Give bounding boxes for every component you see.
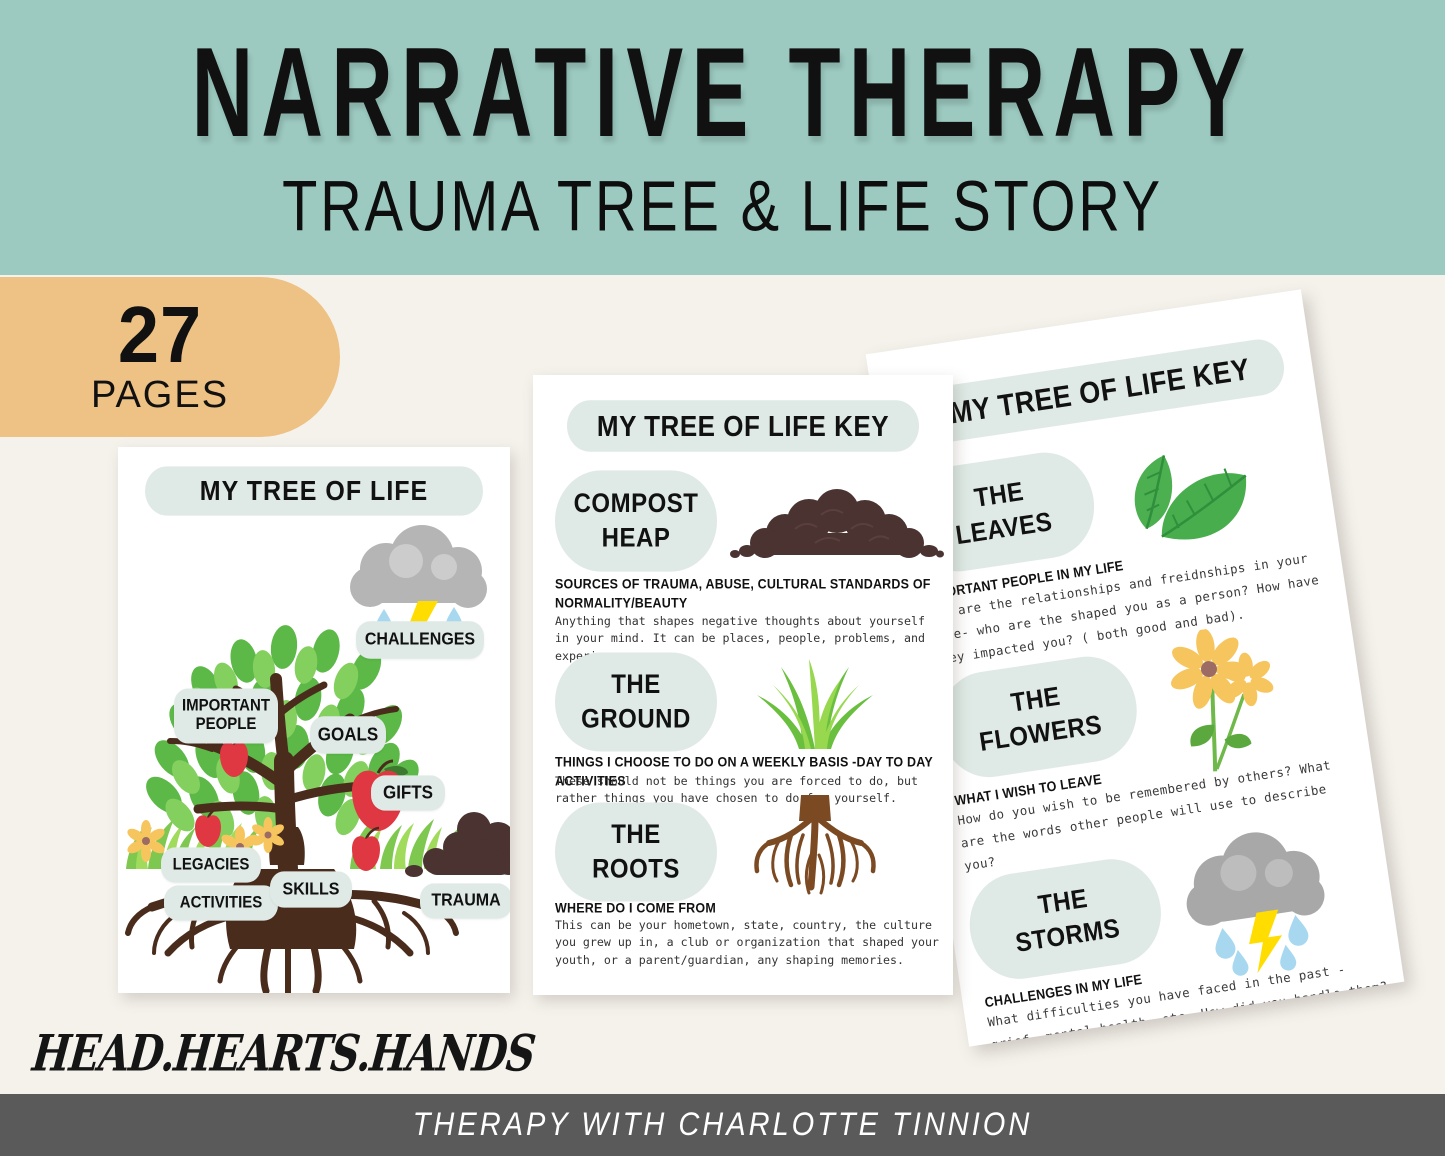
page-subtitle: TRAUMA TREE & LIFE STORY bbox=[51, 172, 1395, 243]
footer-bar: THERAPY WITH CHARLOTTE TINNION bbox=[0, 1094, 1445, 1156]
poster-canvas: NARRATIVE THERAPY TRAUMA TREE & LIFE STO… bbox=[0, 0, 1445, 1156]
tree-illustration: CHALLENGES IMPORTANT PEOPLE GOALS GIFTS … bbox=[118, 509, 510, 993]
section-pill-the-ground: THE GROUND bbox=[555, 653, 717, 752]
tree-of-life-key-card[interactable]: MY TREE OF LIFE KEY COMPOST HEAP bbox=[533, 375, 953, 995]
key-card-back-title: MY TREE OF LIFE KEY bbox=[912, 336, 1288, 446]
page-title: NARRATIVE THERAPY bbox=[130, 30, 1315, 157]
tree-of-life-card[interactable]: MY TREE OF LIFE bbox=[118, 447, 510, 993]
grass-icon bbox=[751, 657, 881, 749]
roots-icon bbox=[745, 795, 885, 905]
tree-label-goals: GOALS bbox=[310, 716, 386, 753]
brand-logo: HEAD.HEARTS.HANDS bbox=[30, 1024, 538, 1083]
tree-label-important-people: IMPORTANT PEOPLE bbox=[174, 689, 278, 744]
section-pill-compost-heap: COMPOST HEAP bbox=[555, 470, 717, 571]
key-card-title: MY TREE OF LIFE KEY bbox=[567, 400, 919, 452]
pages-label: PAGES bbox=[91, 376, 229, 414]
section-body-the-roots: This can be your hometown, state, countr… bbox=[555, 917, 945, 969]
tree-label-legacies: LEGACIES bbox=[161, 847, 261, 882]
pages-count: 27 bbox=[118, 297, 202, 373]
section-heading-compost-heap: SOURCES OF TRAUMA, ABUSE, CULTURAL STAND… bbox=[555, 575, 931, 613]
section-pill-the-flowers: THE FLOWERS bbox=[932, 650, 1143, 784]
section-pill-the-roots: THE ROOTS bbox=[555, 803, 717, 902]
compost-heap-icon bbox=[729, 485, 945, 567]
tree-label-activities: ACTIVITIES bbox=[164, 885, 278, 920]
tree-label-gifts: GIFTS bbox=[371, 775, 445, 810]
pages-badge: 27 PAGES bbox=[0, 277, 340, 437]
tree-label-trauma: TRAUMA bbox=[420, 883, 510, 918]
section-heading-the-roots: WHERE DO I COME FROM bbox=[555, 899, 935, 918]
tree-label-challenges: CHALLENGES bbox=[356, 621, 484, 658]
footer-text: THERAPY WITH CHARLOTTE TINNION bbox=[413, 1107, 1033, 1144]
tree-label-skills: SKILLS bbox=[270, 871, 352, 907]
